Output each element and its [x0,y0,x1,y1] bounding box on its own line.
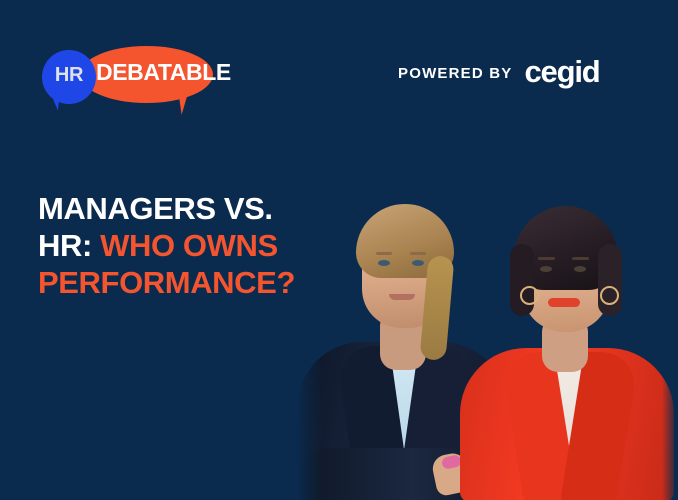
headline-line-3-orange-text: PERFORMANCE? [38,265,295,300]
photo-edge-fade-left [296,190,322,500]
eyebrow-right [410,252,426,255]
promo-banner: DEBATABLE HR POWERED BY cegid MANAGERS V… [0,0,678,500]
dark-hair-side-left [510,244,534,316]
logo-word-debatable: DEBATABLE [96,61,216,84]
eye-right [412,260,424,266]
hr-debatable-logo: DEBATABLE HR [38,44,213,118]
mouth [548,298,580,307]
eyebrow-right [572,257,589,260]
eyebrow-left [376,252,392,255]
headline-line-2-orange-text: WHO OWNS [100,228,278,263]
speech-bubble-blue-tail-icon [45,89,60,110]
headline-line-1-text: MANAGERS VS. [38,191,273,226]
mouth [389,294,415,300]
hoop-earring-left-icon [520,286,539,305]
cegid-logo: cegid [525,56,600,87]
headline-line-2-white-text: HR: [38,228,92,263]
eye-right [574,266,586,272]
eye-left [378,260,390,266]
powered-by-block: POWERED BY cegid [398,58,599,89]
hoop-earring-right-icon [600,286,619,305]
powered-by-label: POWERED BY [398,65,513,82]
eye-left [540,266,552,272]
logo-word-hr: HR [42,65,96,85]
person-darkhair-red-blazer [456,190,678,500]
photo-edge-fade-right [662,190,678,500]
eyebrow-left [538,257,555,260]
speakers-photo [296,190,678,500]
dark-hair-side-right [598,244,622,316]
